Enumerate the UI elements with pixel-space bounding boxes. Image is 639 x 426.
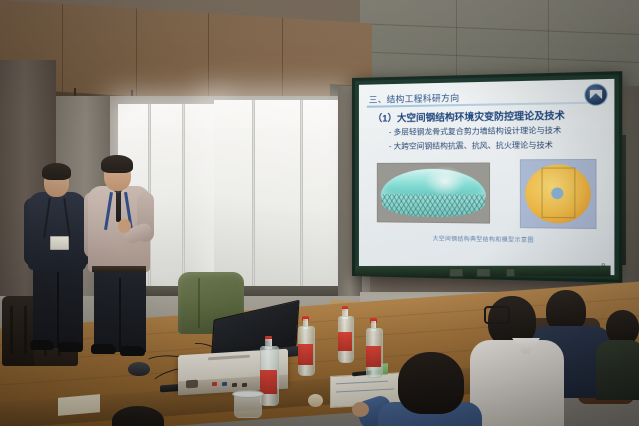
water-bottle[interactable] bbox=[366, 318, 381, 376]
slide-subtitle: （1）大空间钢结构环境灾变防控理论及技术 bbox=[373, 107, 599, 125]
water-bottle[interactable] bbox=[338, 306, 352, 360]
glasses-icon bbox=[484, 306, 510, 324]
slide-figure-caption: 大空间钢结构典型结构和模型示意图 bbox=[359, 233, 614, 245]
presentation-slide: 三、结构工程科研方向 （1）大空间钢结构环境灾变防控理论及技术 - 多层轻钢龙骨… bbox=[359, 79, 614, 275]
slide-bullet-1: - 多层轻钢龙骨式复合剪力墙结构设计理论与技术 bbox=[389, 124, 606, 138]
conference-room-photo: 三、结构工程科研方向 （1）大空间钢结构环境灾变防控理论及技术 - 多层轻钢龙骨… bbox=[0, 0, 639, 426]
screen-control-bar[interactable] bbox=[356, 266, 611, 277]
dome-plan-diagram-image bbox=[520, 159, 597, 229]
computer-mouse[interactable] bbox=[128, 362, 150, 376]
paper-sheet bbox=[58, 394, 100, 416]
glasses-icon bbox=[106, 170, 129, 177]
stadium-truss-render-image bbox=[377, 163, 490, 224]
slide-bullet-2: - 大跨空间钢结构抗震、抗风、抗火理论与技术 bbox=[389, 139, 606, 152]
projection-screen[interactable]: 三、结构工程科研方向 （1）大空间钢结构环境灾变防控理论及技术 - 多层轻钢龙骨… bbox=[352, 71, 622, 283]
frosted-glass-panel-right bbox=[214, 100, 344, 286]
projector-lens bbox=[186, 380, 198, 389]
name-badge bbox=[50, 236, 69, 250]
cup-rim bbox=[232, 390, 264, 398]
water-bottle[interactable] bbox=[298, 316, 313, 374]
small-object bbox=[308, 394, 323, 407]
armchair-seam bbox=[198, 278, 200, 328]
glasses-icon bbox=[46, 177, 67, 183]
microphone-icon bbox=[116, 188, 121, 222]
